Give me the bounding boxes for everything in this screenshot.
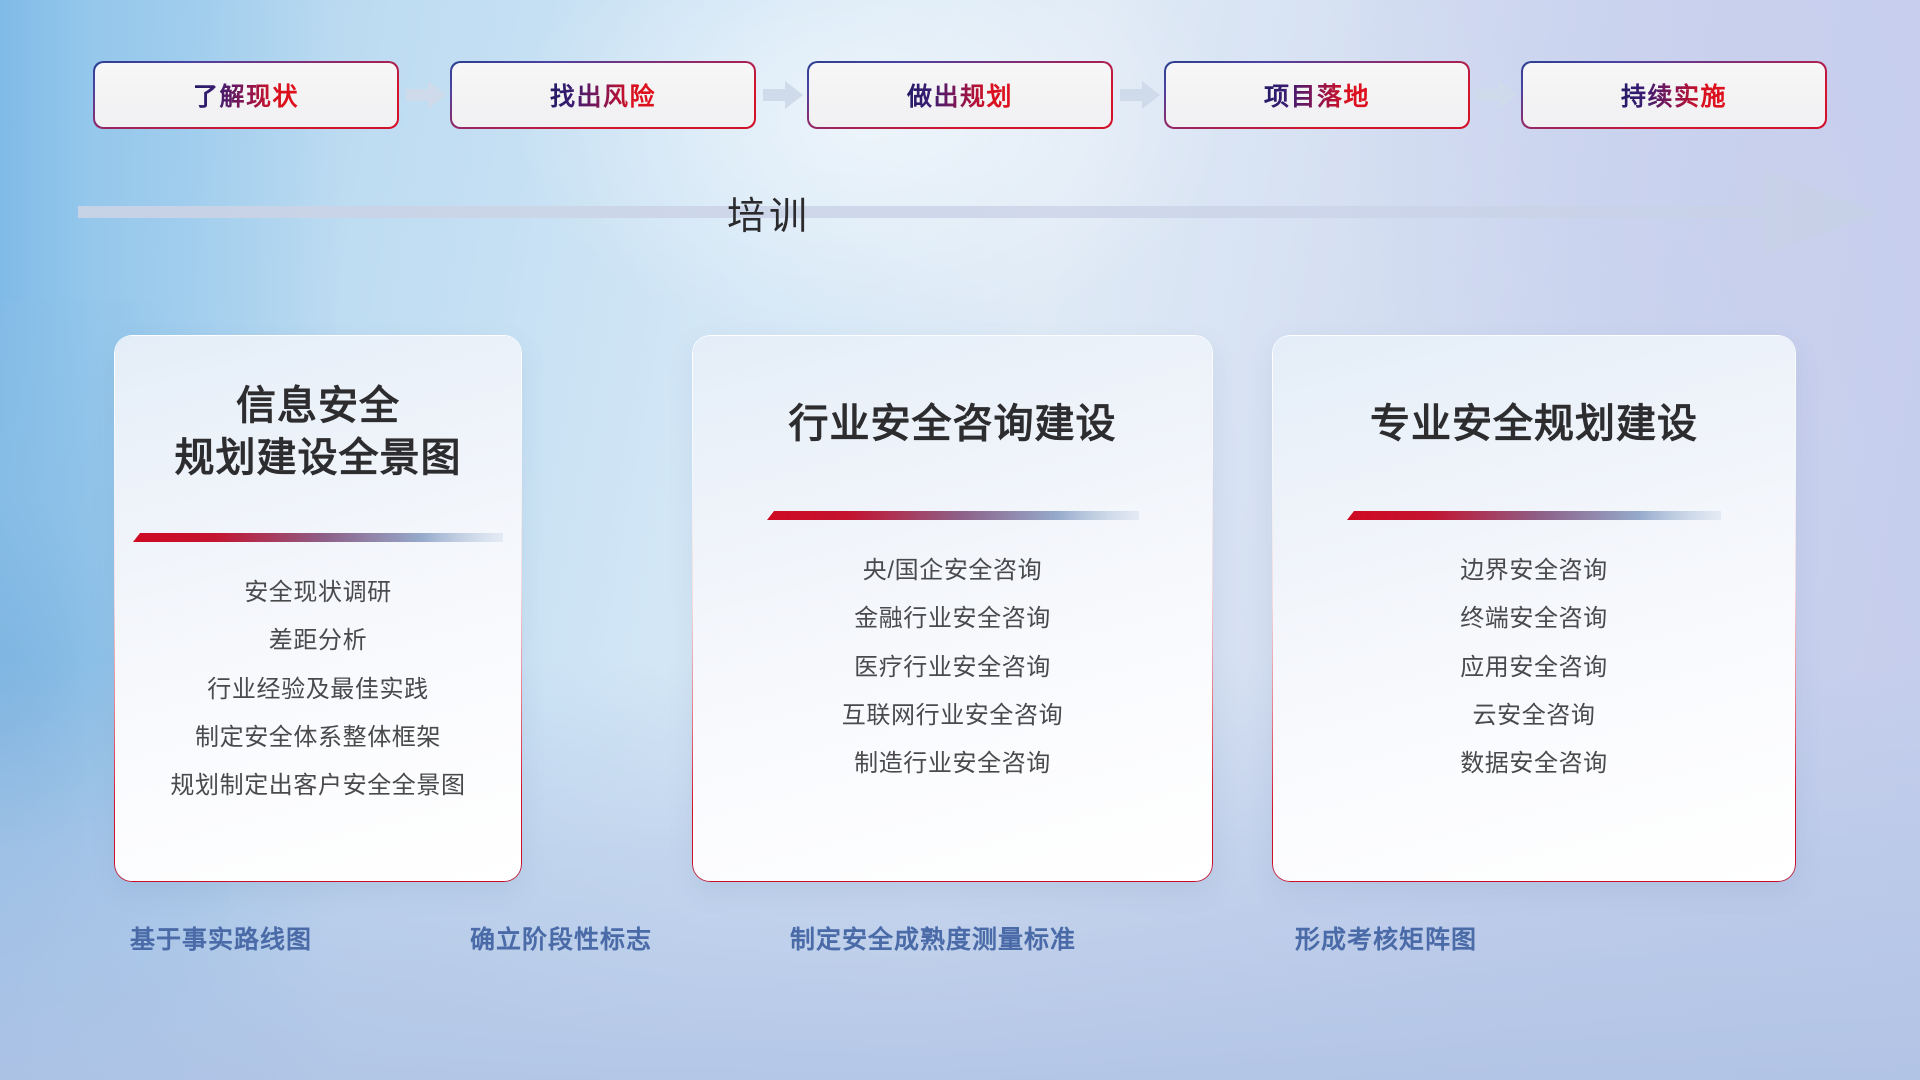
step-label-1: 了解现状 <box>193 77 299 113</box>
card-3-accent-rule <box>1347 511 1721 520</box>
step-box-3[interactable]: 做出规划 <box>809 63 1112 127</box>
chevron-right-arrow-icon <box>1112 75 1166 115</box>
process-steps-row: 了解现状 找出风险 做出规划 项目落地 持续实施 <box>0 62 1920 128</box>
list-item: 规划制定出客户安全全景图 <box>170 765 465 806</box>
list-item: 差距分析 <box>269 620 367 661</box>
chevron-right-arrow-icon <box>755 75 809 115</box>
list-item: 制定安全体系整体框架 <box>195 717 441 758</box>
card-2-title: 行业安全咨询建设 <box>693 398 1212 450</box>
chevron-right-arrow-icon <box>398 75 452 115</box>
list-item: 安全现状调研 <box>244 572 392 613</box>
list-item: 终端安全咨询 <box>1460 598 1608 639</box>
card-1-title: 信息安全 规划建设全景图 <box>115 380 521 484</box>
list-item: 应用安全咨询 <box>1460 647 1608 688</box>
list-item: 金融行业安全咨询 <box>854 598 1051 639</box>
chevron-right-arrow-icon <box>1469 75 1523 115</box>
training-band: 培训 <box>78 168 1878 256</box>
step-box-4[interactable]: 项目落地 <box>1166 63 1469 127</box>
list-item: 制造行业安全咨询 <box>854 743 1051 784</box>
list-item: 云安全咨询 <box>1473 695 1596 736</box>
list-item: 边界安全咨询 <box>1460 550 1608 591</box>
cards-row: 信息安全 规划建设全景图 安全现状调研 差距分析 行业经验及最佳实践 制定安全体… <box>0 336 1920 881</box>
outcome-label-3: 制定安全成熟度测量标准 <box>790 920 1076 956</box>
list-item: 医疗行业安全咨询 <box>854 647 1051 688</box>
list-item: 互联网行业安全咨询 <box>842 695 1063 736</box>
list-item: 数据安全咨询 <box>1460 743 1608 784</box>
step-box-5[interactable]: 持续实施 <box>1523 63 1826 127</box>
card-2[interactable]: 行业安全咨询建设 央/国企安全咨询 金融行业安全咨询 医疗行业安全咨询 互联网行… <box>693 336 1212 881</box>
card-2-accent-rule <box>767 511 1139 520</box>
card-1[interactable]: 信息安全 规划建设全景图 安全现状调研 差距分析 行业经验及最佳实践 制定安全体… <box>115 336 521 881</box>
training-band-label: 培训 <box>727 185 811 240</box>
step-label-5: 持续实施 <box>1621 77 1727 113</box>
card-3-list: 边界安全咨询 终端安全咨询 应用安全咨询 云安全咨询 数据安全咨询 <box>1273 550 1795 784</box>
card-1-accent-rule <box>133 533 503 542</box>
outcome-label-4: 形成考核矩阵图 <box>1295 920 1477 956</box>
outcome-label-2: 确立阶段性标志 <box>470 920 652 956</box>
card-3-title: 专业安全规划建设 <box>1273 398 1795 450</box>
step-label-2: 找出风险 <box>550 77 656 113</box>
card-1-list: 安全现状调研 差距分析 行业经验及最佳实践 制定安全体系整体框架 规划制定出客户… <box>115 572 521 806</box>
list-item: 央/国企安全咨询 <box>863 550 1042 591</box>
step-label-4: 项目落地 <box>1264 77 1370 113</box>
list-item: 行业经验及最佳实践 <box>207 669 428 710</box>
step-box-2[interactable]: 找出风险 <box>452 63 755 127</box>
step-label-3: 做出规划 <box>907 77 1013 113</box>
outcome-label-1: 基于事实路线图 <box>130 920 312 956</box>
training-band-label-wrap: 培训 <box>78 168 1460 256</box>
card-3[interactable]: 专业安全规划建设 边界安全咨询 终端安全咨询 应用安全咨询 云安全咨询 数据安全… <box>1273 336 1795 881</box>
outcome-labels-row: 基于事实路线图 确立阶段性标志 制定安全成熟度测量标准 形成考核矩阵图 <box>0 920 1920 970</box>
step-box-1[interactable]: 了解现状 <box>95 63 398 127</box>
card-2-list: 央/国企安全咨询 金融行业安全咨询 医疗行业安全咨询 互联网行业安全咨询 制造行… <box>693 550 1212 784</box>
